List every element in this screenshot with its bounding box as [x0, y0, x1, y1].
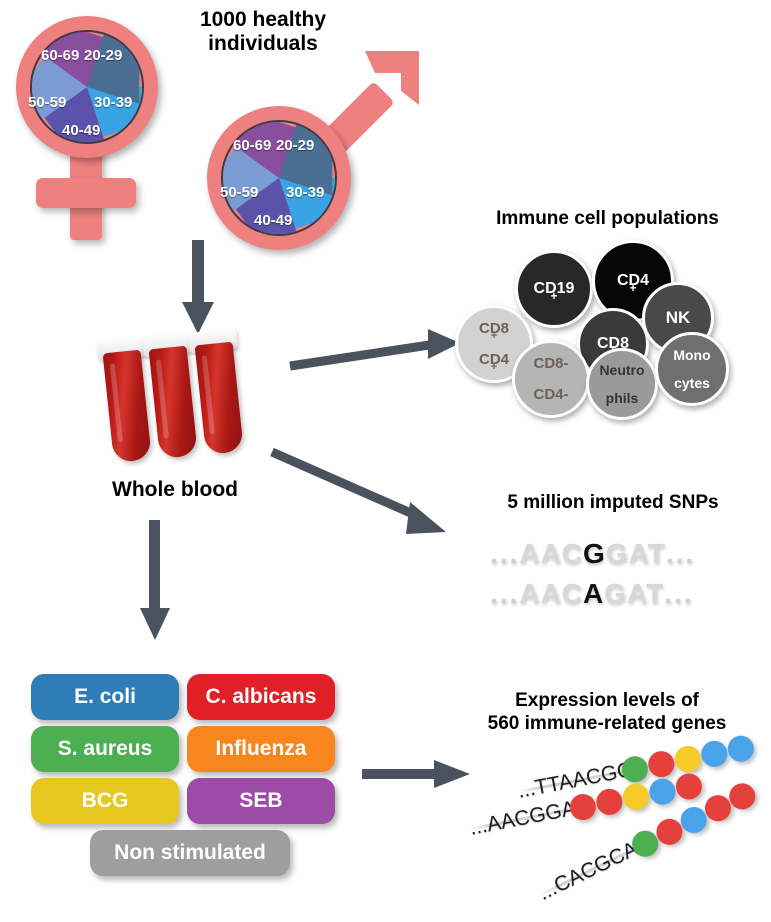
snp-suffix: GAT [606, 538, 666, 569]
strand-bead [647, 776, 677, 806]
snp-allele-2: ...AACAGAT... [490, 578, 694, 610]
arrow-stimuli-to-expression [362, 758, 477, 794]
snps-title: 5 million imputed SNPs [463, 492, 763, 514]
snp-suffix: GAT [604, 578, 664, 609]
female-age-label-30-39: 30-39 [94, 94, 132, 111]
arrow-blood-to-snps [270, 448, 455, 538]
blood-tube [195, 342, 244, 455]
snp-ellipsis-left: ... [490, 538, 519, 569]
female-age-label-40-49: 40-49 [62, 122, 100, 139]
blood-tube [149, 346, 198, 459]
stimulus-e-coli[interactable]: E. coli [31, 674, 179, 720]
cell-neutrophils: Neutro phils [586, 348, 658, 420]
expression-title-line2: 560 immune-related genes [448, 713, 766, 736]
cell-monocytes: Mono cytes [655, 332, 729, 406]
cell-label-line2: cytes [673, 376, 710, 390]
male-age-label-20-29: 20-29 [276, 137, 314, 154]
stimulus-influenza[interactable]: Influenza [187, 726, 335, 772]
male-age-label-40-49: 40-49 [254, 212, 292, 229]
arrow-blood-to-immune [288, 330, 463, 378]
male-symbol: 20-29 30-39 40-49 50-59 60-69 [205, 80, 420, 265]
cell-label: NK [666, 309, 691, 326]
cell-cd19: CD19+ [515, 250, 593, 328]
stimulus-bcg[interactable]: BCG [31, 778, 179, 824]
female-age-label-20-29: 20-29 [84, 47, 122, 64]
snp-ellipsis-right: ... [666, 538, 695, 569]
expression-title: Expression levels of 560 immune-related … [448, 690, 766, 736]
cohort-title-line1: 1000 healthy [158, 8, 368, 32]
stimulus-non-stimulated[interactable]: Non stimulated [90, 830, 290, 876]
stimulus-seb[interactable]: SEB [187, 778, 335, 824]
female-age-label-50-59: 50-59 [28, 94, 66, 111]
strand-bead [726, 733, 756, 763]
male-age-label-60-69: 60-69 [233, 137, 271, 154]
snp-prefix: AAC [519, 538, 583, 569]
snp-variant: A [583, 578, 604, 609]
cohort-title-line2: individuals [158, 32, 368, 56]
cell-label-line2: CD4- [533, 387, 568, 402]
strand-bead [621, 782, 651, 812]
snp-prefix: AAC [519, 578, 583, 609]
male-age-label-50-59: 50-59 [220, 184, 258, 201]
stimulus-c-albicans[interactable]: C. albicans [187, 674, 335, 720]
blood-tube [103, 350, 152, 463]
female-symbol: 20-29 30-39 40-49 50-59 60-69 [8, 10, 188, 240]
cell-label-line1: CD8- [533, 356, 568, 371]
cohort-title: 1000 healthy individuals [158, 8, 368, 56]
strand-bead [594, 787, 624, 817]
snp-ellipsis-left: ... [490, 578, 519, 609]
snp-variant: G [583, 538, 606, 569]
cell-label-line1: Mono [673, 348, 710, 362]
arrow-blood-to-stimuli [135, 520, 175, 645]
cell-label-line2: phils [599, 391, 644, 405]
cell-cd8n-cd4n: CD8- CD4- [512, 340, 590, 418]
snp-allele-1: ...AACGGAT... [490, 538, 695, 570]
immune-cell-cluster: CD8+ CD4+ CD19+ CD4+ CD8+ NK CD8- CD4- N… [455, 240, 760, 415]
male-age-label-30-39: 30-39 [286, 184, 324, 201]
arrow-cohort-to-blood [178, 240, 218, 340]
cell-label-line1: Neutro [599, 363, 644, 377]
whole-blood-label: Whole blood [80, 478, 270, 502]
stimulus-s-aureus[interactable]: S. aureus [31, 726, 179, 772]
immune-cells-title: Immune cell populations [455, 208, 760, 230]
expression-title-line1: Expression levels of [448, 690, 766, 713]
blood-tubes [100, 335, 280, 470]
female-symbol-crossbar [36, 178, 136, 208]
female-age-label-60-69: 60-69 [41, 47, 79, 64]
snp-ellipsis-right: ... [664, 578, 693, 609]
